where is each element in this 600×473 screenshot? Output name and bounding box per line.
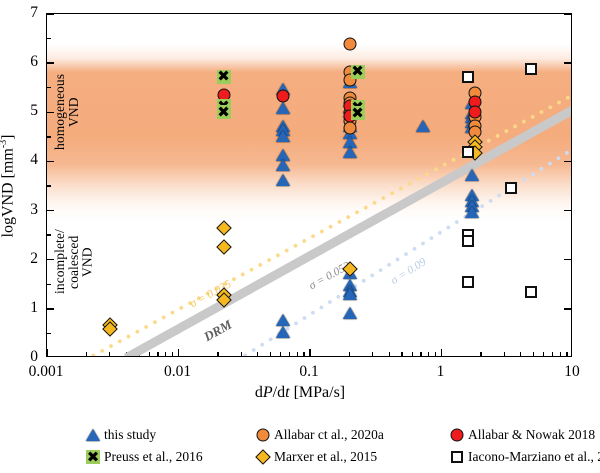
x-axis-title: dP/dt [MPa/s] — [0, 384, 600, 402]
homogeneous-vnd-label: homogeneous VND — [53, 56, 81, 168]
x-tick-minor — [543, 352, 544, 356]
data-point-allabar-et-al-2020a — [343, 122, 356, 135]
data-point-this-study — [276, 130, 290, 142]
legend-item-allabar-nowak-2018[interactable]: Allabar & Nowak 2018 — [448, 426, 595, 444]
data-point-iacono-marziano-et-al-2007 — [462, 71, 474, 83]
x-tick-minor — [566, 352, 567, 356]
x-tick-minor — [172, 352, 173, 356]
legend: this study Allabar ct al., 2020a Allabar… — [84, 424, 584, 468]
x-tick-label: 10 — [564, 363, 580, 381]
x-tick-minor — [109, 352, 110, 356]
y-tick-minor — [47, 234, 51, 235]
legend-item-marxer-2015[interactable]: Marxer et al., 2015 — [254, 448, 448, 466]
x-tick-minor — [270, 352, 271, 356]
x-tick-minor — [412, 352, 413, 356]
legend-label: Preuss et al., 2016 — [104, 449, 203, 465]
legend-item-preuss-2016[interactable]: ✖ Preuss et al., 2016 — [84, 448, 254, 466]
circle-red-icon — [448, 426, 468, 444]
y-tick — [564, 210, 571, 212]
data-point-preuss-et-al-2016: ✖ — [217, 105, 231, 119]
legend-item-allabar-2020a[interactable]: Allabar ct al., 2020a — [254, 426, 448, 444]
diamond-icon — [254, 448, 274, 466]
x-tick-minor — [552, 352, 553, 356]
y-tick — [564, 259, 571, 261]
homogeneous-vnd-band — [47, 14, 571, 356]
circle-orange-icon — [254, 426, 274, 444]
legend-label: Iacono-Marziano et al., 2007 — [468, 449, 600, 465]
y-tick — [564, 308, 571, 310]
chart-root: logVND [mm-3] dP/dt [MPa/s] 01234567 0.0… — [0, 0, 600, 473]
x-tick-minor — [257, 352, 258, 356]
x-tick-label: 0.001 — [29, 363, 64, 381]
x-square-icon: ✖ — [84, 448, 104, 466]
x-tick-minor — [372, 352, 373, 356]
data-point-marxer-et-al-2015 — [216, 220, 232, 236]
x-tick-minor — [349, 352, 350, 356]
trend-line-sigma-0.035 — [88, 92, 572, 357]
legend-item-iacono-marziano-2007[interactable]: Iacono-Marziano et al., 2007 — [448, 448, 600, 466]
data-point-marxer-et-al-2015 — [216, 240, 232, 256]
x-tick — [46, 349, 48, 356]
data-point-iacono-marziano-et-al-2007 — [462, 146, 474, 158]
y-tick-minor — [47, 38, 51, 39]
x-tick — [178, 349, 180, 356]
x-tick-minor — [401, 352, 402, 356]
x-tick-minor — [420, 352, 421, 356]
y-tick — [564, 62, 571, 64]
legend-label: Allabar & Nowak 2018 — [468, 427, 595, 443]
triangle-icon — [84, 426, 104, 444]
data-point-preuss-et-al-2016: ✖ — [217, 70, 231, 84]
x-tick-minor — [149, 352, 150, 356]
data-point-this-study — [465, 206, 479, 218]
x-tick-label: 1 — [437, 363, 445, 381]
data-point-this-study — [416, 120, 430, 132]
data-point-preuss-et-al-2016: ✖ — [351, 106, 365, 120]
drm-label: DRM — [201, 317, 235, 345]
x-tick-minor — [389, 352, 390, 356]
plot-area: σ = 0.035σ = 0.053σ = 0.09DRM homogeneou… — [46, 13, 572, 357]
y-axis-title: logVND [mm-3] — [0, 135, 17, 238]
data-point-this-study — [276, 159, 290, 171]
data-point-this-study — [276, 326, 290, 338]
x-tick — [441, 349, 443, 356]
x-tick-label: 0.01 — [164, 363, 191, 381]
data-point-preuss-et-al-2016: ✖ — [351, 65, 365, 79]
y-tick-minor — [47, 136, 51, 137]
y-tick-label: 1 — [16, 299, 38, 317]
legend-row: ✖ Preuss et al., 2016 Marxer et al., 201… — [84, 446, 584, 468]
data-point-this-study — [343, 146, 357, 158]
legend-item-this-study[interactable]: this study — [84, 426, 254, 444]
data-point-this-study — [343, 307, 357, 319]
data-point-iacono-marziano-et-al-2007 — [525, 286, 537, 298]
x-tick — [309, 349, 311, 356]
x-tick-minor — [303, 352, 304, 356]
x-tick-minor — [533, 352, 534, 356]
y-tick-label: 5 — [16, 102, 38, 120]
x-tick-minor — [504, 352, 505, 356]
x-tick-minor — [480, 352, 481, 356]
data-point-allabar-nowak-2018 — [276, 90, 289, 103]
y-tick — [564, 161, 571, 163]
data-point-this-study — [276, 102, 290, 114]
y-tick-label: 2 — [16, 250, 38, 268]
y-tick-minor — [47, 185, 51, 186]
legend-label: Allabar ct al., 2020a — [274, 427, 384, 443]
data-point-iacono-marziano-et-al-2007 — [462, 235, 474, 247]
x-tick-minor — [157, 352, 158, 356]
x-tick-minor — [289, 352, 290, 356]
y-tick-minor — [47, 284, 51, 285]
x-tick-minor — [435, 352, 436, 356]
x-axis-title-P: P — [263, 384, 273, 401]
legend-label: Marxer et al., 2015 — [274, 449, 377, 465]
x-tick-minor — [165, 352, 166, 356]
x-tick-label: 0.1 — [299, 363, 318, 381]
x-tick-minor — [428, 352, 429, 356]
x-tick-minor — [297, 352, 298, 356]
legend-row: this study Allabar ct al., 2020a Allabar… — [84, 424, 584, 446]
x-tick-minor — [217, 352, 218, 356]
data-point-this-study — [276, 174, 290, 186]
y-tick-minor — [47, 333, 51, 334]
open-square-icon — [448, 448, 468, 466]
y-tick — [47, 13, 54, 15]
data-point-iacono-marziano-et-al-2007 — [525, 63, 537, 75]
data-point-allabar-et-al-2020a — [343, 38, 356, 51]
x-tick-minor — [520, 352, 521, 356]
data-point-allabar-nowak-2018 — [469, 106, 482, 119]
data-point-this-study — [343, 288, 357, 300]
y-tick-label: 6 — [16, 53, 38, 71]
data-point-iacono-marziano-et-al-2007 — [462, 276, 474, 288]
x-tick-minor — [280, 352, 281, 356]
y-tick-label: 4 — [16, 151, 38, 169]
legend-label: this study — [104, 427, 156, 443]
data-point-this-study — [465, 169, 479, 181]
y-tick-minor — [47, 87, 51, 88]
y-tick — [564, 13, 571, 15]
y-tick-label: 7 — [16, 4, 38, 22]
data-point-iacono-marziano-et-al-2007 — [505, 182, 517, 194]
data-point-this-study — [276, 314, 290, 326]
y-axis-title-exponent: -3 — [0, 140, 9, 148]
incomplete-coalesced-vnd-label: incomplete/ coalesced VND — [53, 208, 94, 316]
y-tick-label: 3 — [16, 201, 38, 219]
x-tick-minor — [560, 352, 561, 356]
